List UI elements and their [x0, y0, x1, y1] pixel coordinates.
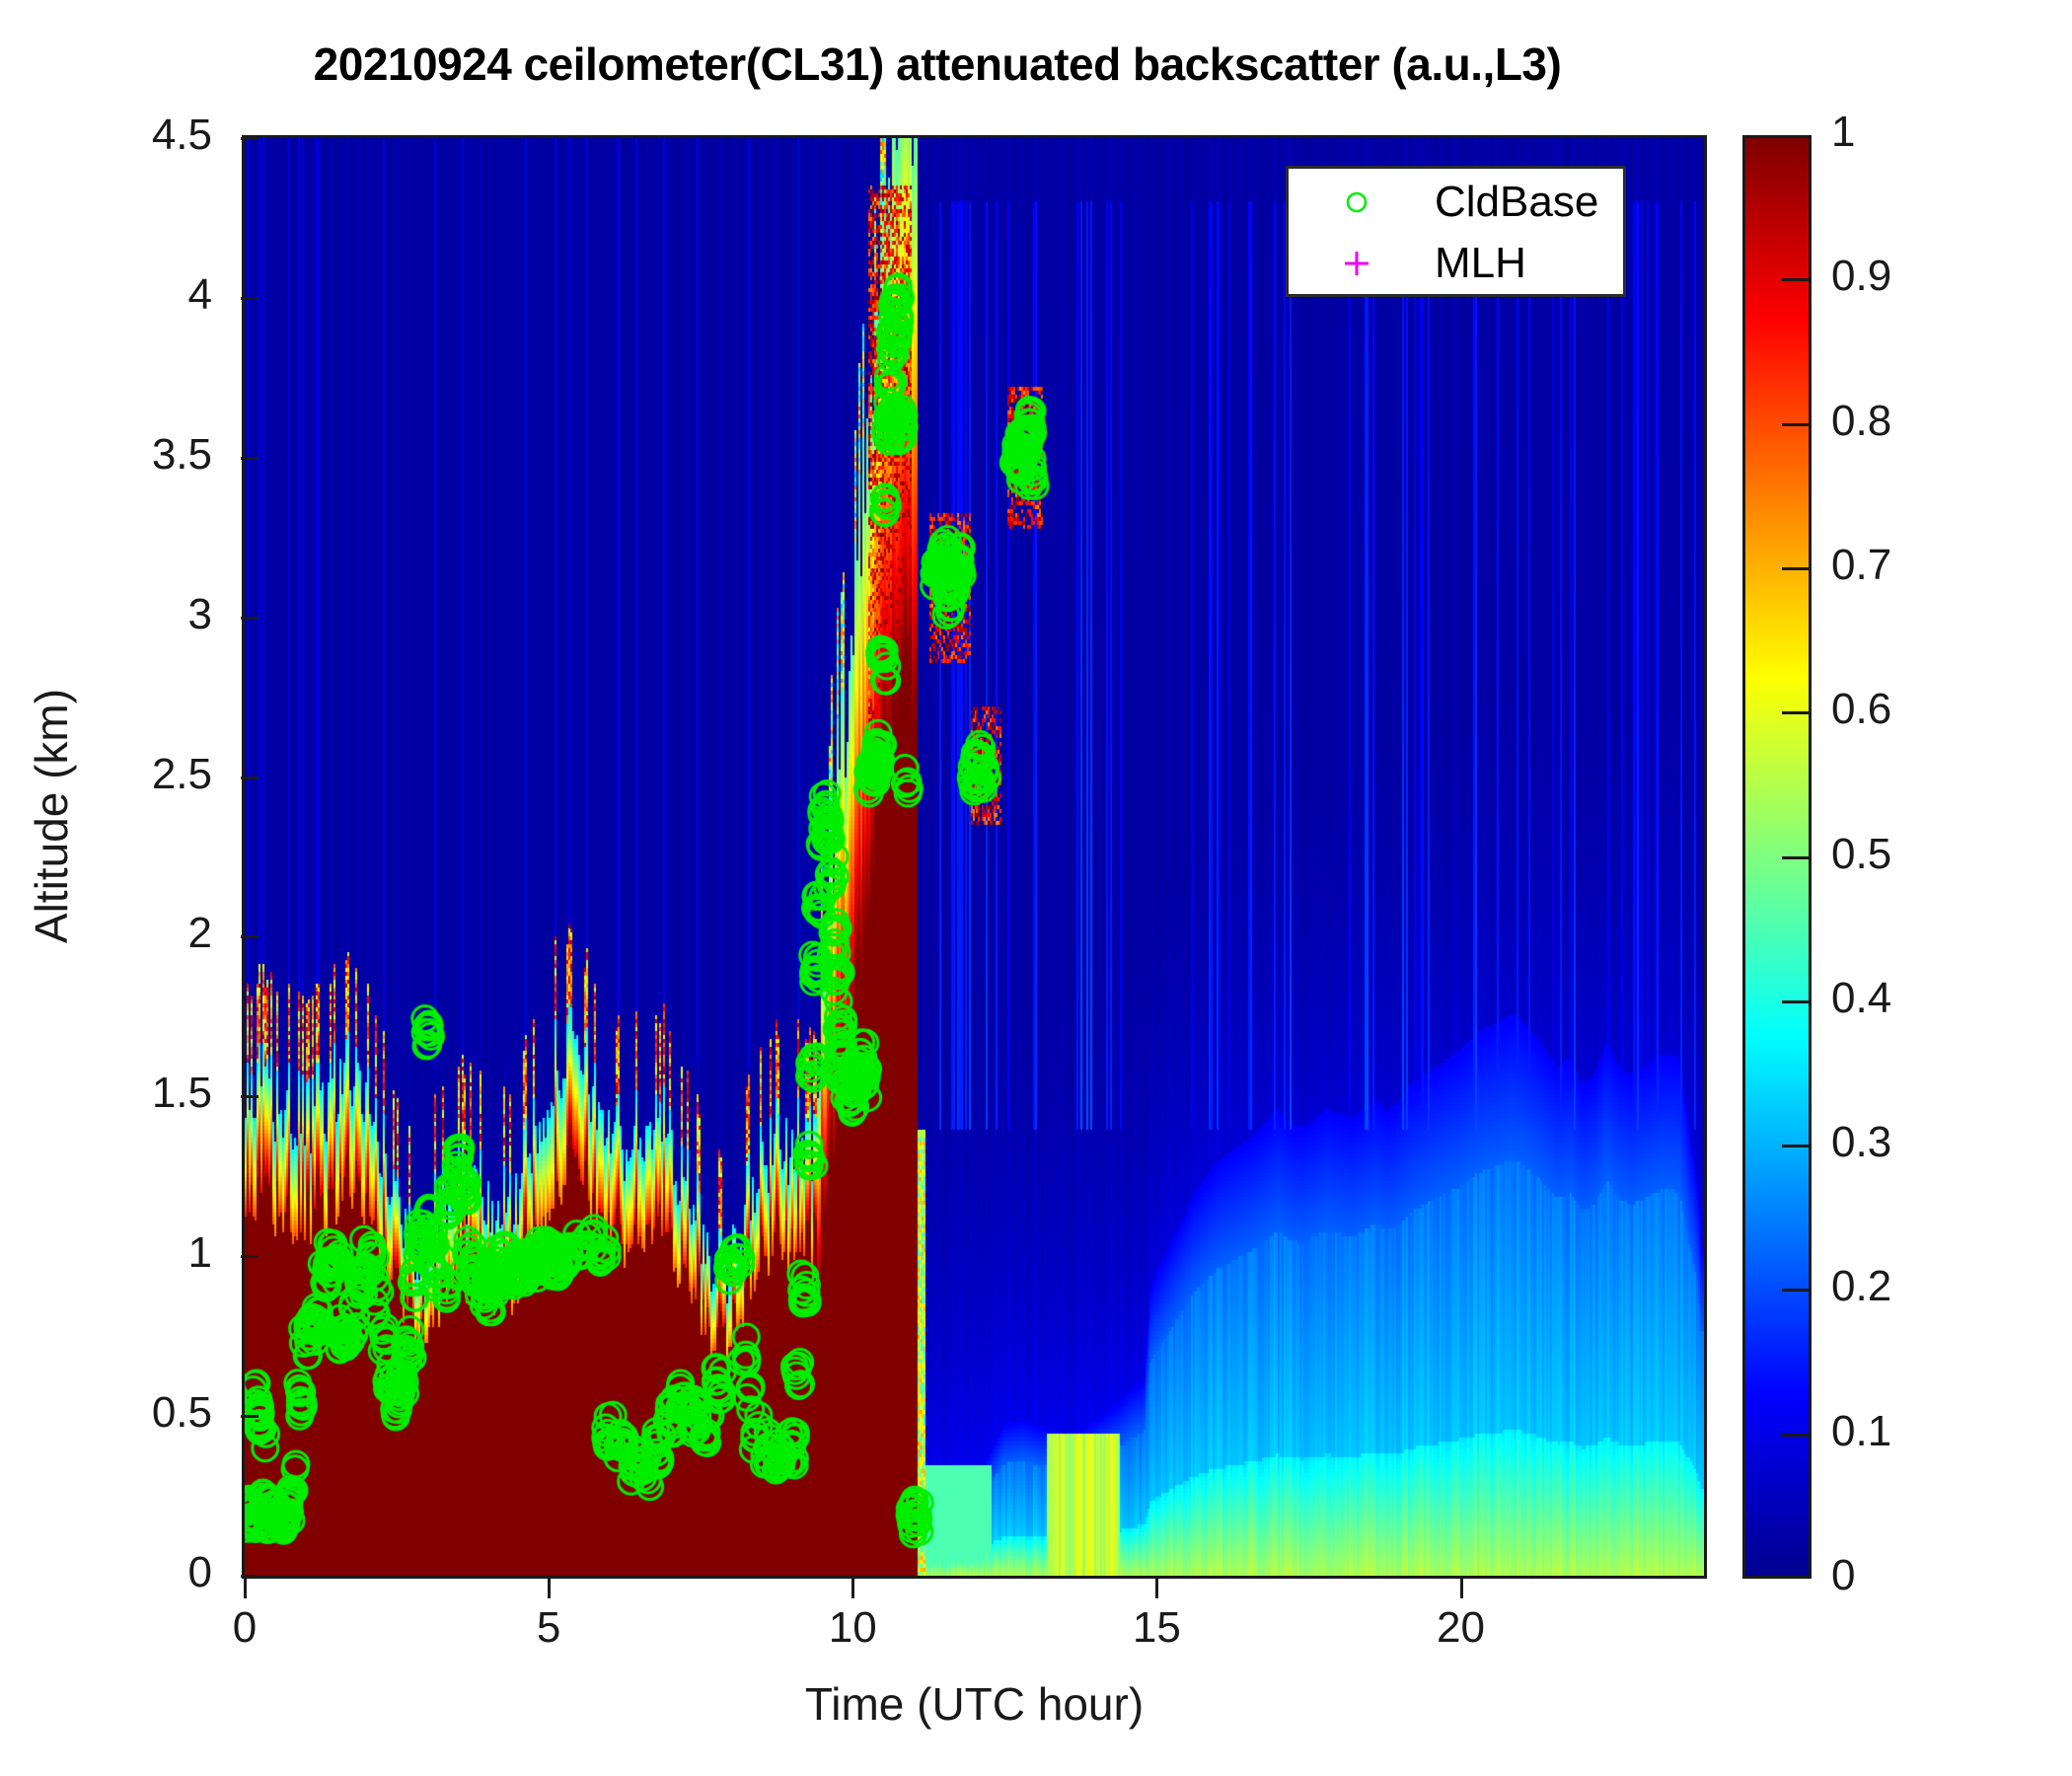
figure-container: 20210924 ceilometer(CL31) attenuated bac… [0, 0, 2072, 1776]
y-tick-label: 4 [0, 270, 212, 320]
x-tick-mark [1460, 1579, 1463, 1598]
y-tick-mark [241, 1415, 259, 1418]
x-tick-label: 15 [1097, 1603, 1216, 1653]
y-tick-mark [241, 1095, 259, 1098]
colorbar-tick-label: 0.5 [1831, 830, 1891, 879]
colorbar-tick-mark [1782, 711, 1810, 714]
colorbar-tick-mark [1782, 567, 1810, 570]
colorbar-tick-mark [1782, 1145, 1810, 1147]
x-tick-mark [548, 1579, 551, 1598]
colorbar-tick-label: 0.1 [1831, 1407, 1891, 1456]
legend-box[interactable]: CldBase MLH [1286, 166, 1626, 297]
colorbar-tick-label: 0 [1831, 1551, 1855, 1600]
legend-entry-mlh[interactable]: MLH [1289, 236, 1623, 291]
colorbar-tick-label: 0.9 [1831, 252, 1891, 301]
x-tick-label: 20 [1402, 1603, 1520, 1653]
x-tick-label: 10 [793, 1603, 912, 1653]
colorbar-tick-label: 0.8 [1831, 397, 1891, 446]
x-axis-label: Time (UTC hour) [242, 1677, 1707, 1731]
colorbar-tick-mark [1782, 1289, 1810, 1292]
colorbar-tick-label: 1 [1831, 108, 1855, 157]
y-tick-label: 3 [0, 590, 212, 639]
legend-entry-cldbase[interactable]: CldBase [1289, 175, 1623, 230]
y-tick-mark [241, 457, 259, 460]
y-tick-mark [241, 297, 259, 300]
x-tick-mark [851, 1579, 854, 1598]
x-tick-label: 5 [489, 1603, 608, 1653]
y-tick-label: 3.5 [0, 430, 212, 480]
colorbar-tick-label: 0.6 [1831, 685, 1891, 734]
legend-label-cldbase: CldBase [1435, 178, 1598, 227]
y-tick-mark [241, 1255, 259, 1258]
y-tick-label: 2.5 [0, 750, 212, 799]
y-tick-label: 0.5 [0, 1388, 212, 1438]
colorbar-tick-mark [1782, 1434, 1810, 1437]
colorbar-tick-mark [1782, 856, 1810, 859]
y-tick-label: 0 [0, 1548, 212, 1597]
page-title: 20210924 ceilometer(CL31) attenuated bac… [0, 37, 1875, 91]
y-tick-mark [241, 1575, 259, 1578]
y-tick-label: 4.5 [0, 111, 212, 160]
marker-overlay [245, 138, 1704, 1576]
x-tick-mark [244, 1579, 247, 1598]
colorbar-tick-mark [1782, 278, 1810, 281]
y-tick-label: 1 [0, 1228, 212, 1278]
circle-marker-icon [1340, 185, 1373, 219]
y-tick-mark [241, 777, 259, 779]
colorbar-tick-mark [1782, 1000, 1810, 1003]
colorbar-tick-label: 0.4 [1831, 974, 1891, 1023]
x-tick-mark [1155, 1579, 1158, 1598]
plus-marker-icon [1340, 247, 1373, 280]
colorbar-tick-label: 0.2 [1831, 1262, 1891, 1311]
legend-label-mlh: MLH [1435, 239, 1526, 288]
y-tick-label: 2 [0, 909, 212, 958]
x-tick-label: 0 [185, 1603, 304, 1653]
y-tick-mark [241, 935, 259, 938]
y-axis-label: Altitude (km) [25, 599, 78, 1033]
y-tick-label: 1.5 [0, 1069, 212, 1118]
colorbar-tick-mark [1782, 423, 1810, 426]
y-tick-mark [241, 137, 259, 140]
colorbar-tick-label: 0.3 [1831, 1118, 1891, 1167]
colorbar-tick-label: 0.7 [1831, 541, 1891, 590]
plot-axes[interactable] [242, 135, 1707, 1579]
y-tick-mark [241, 617, 259, 620]
